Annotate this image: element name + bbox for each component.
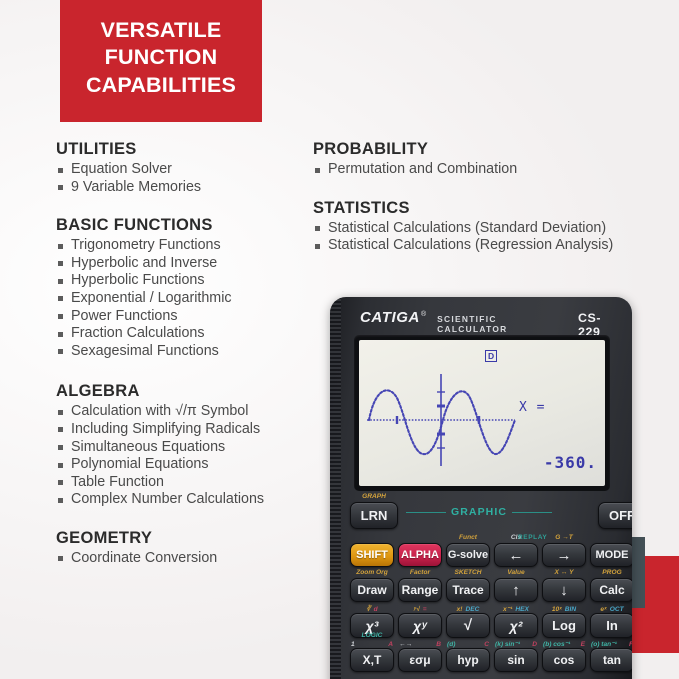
key-above-label-sketch: SKETCH: [454, 569, 481, 578]
key-above-label-prog: PROG: [602, 569, 621, 578]
feature-section-utilities: UTILITIES Equation Solver 9 Variable Mem…: [56, 140, 321, 196]
bullet-icon: [315, 226, 320, 231]
key-cos[interactable]: cos: [542, 648, 586, 672]
keypad: GRAPH LRN GRAPHIC OFF ON: [344, 489, 626, 672]
key-above-label-dec: DEC: [465, 606, 479, 613]
list-item-label: Polynomial Equations: [71, 456, 209, 472]
bullet-icon: [58, 168, 63, 173]
calculator-side-ribs: [330, 297, 341, 679]
feature-list-geometry: Coordinate Conversion: [56, 550, 321, 568]
calculator-branding: CATIGA ® SCIENTIFIC CALCULATOR CS-229: [360, 309, 622, 327]
key-above-group-tan: (o) tan⁻¹ F: [591, 640, 632, 648]
bullet-icon: [58, 296, 63, 301]
key-above-label-d-hex: D: [532, 641, 537, 648]
key-above-label-value: Value: [507, 569, 524, 578]
calculator-device: CATIGA ® SCIENTIFIC CALCULATOR CS-229 D: [330, 297, 632, 679]
key-above-label-oct: OCT: [610, 606, 624, 613]
key-group-left-arrow: Cls ← REPLAY: [494, 534, 538, 567]
key-above-label-zoom-org: Zoom Org: [356, 569, 388, 578]
list-item: Statistical Calculations (Regression Ana…: [313, 237, 673, 255]
section-heading-basic-functions: BASIC FUNCTIONS: [56, 216, 321, 235]
list-item-label: Hyperbolic Functions: [71, 272, 205, 288]
list-item-label: Statistical Calculations (Regression Ana…: [328, 237, 613, 253]
key-above-group-sin: (k) sin⁻¹ D: [495, 640, 537, 648]
bullet-icon: [58, 185, 63, 190]
lcd-bezel: D X = -360.: [354, 335, 610, 491]
key-above-label-one: 1: [351, 641, 355, 648]
feature-list-statistics: Statistical Calculations (Standard Devia…: [313, 220, 673, 255]
strip-dash-right: [512, 512, 552, 513]
list-item: Calculation with √/π Symbol: [56, 403, 321, 421]
list-item: 9 Variable Memories: [56, 179, 321, 197]
title-banner: VERSATILE FUNCTION CAPABILITIES: [60, 0, 262, 122]
key-above-label-factorial: x!: [457, 606, 463, 613]
key-above-label-c: C: [484, 641, 489, 648]
list-item: Statistical Calculations (Standard Devia…: [313, 220, 673, 238]
key-group-up-arrow: Value ↑: [494, 569, 538, 602]
bullet-icon: [58, 498, 63, 503]
bullet-icon: [58, 480, 63, 485]
key-above-label-hex: HEX: [515, 606, 529, 613]
key-arrow-left-icon[interactable]: ←: [494, 543, 538, 567]
key-above-group-cos: (b) cos⁻¹ E: [543, 640, 585, 648]
key-above-label-sin-inverse: (k) sin⁻¹: [495, 640, 520, 648]
list-item-label: Hyperbolic and Inverse: [71, 255, 217, 271]
key-above-label-d: d: [374, 606, 378, 613]
key-above-label-spacer-e: [563, 631, 565, 640]
key-arrow-down-icon[interactable]: ↓: [542, 578, 586, 602]
key-group-tan: (o) tan⁻¹ F tan: [590, 631, 632, 672]
key-above-label-tan-inverse: (o) tan⁻¹: [591, 640, 617, 648]
lcd-sine-graph: [367, 370, 517, 470]
bullet-icon: [58, 349, 63, 354]
key-above-group-hyp: (d) C: [447, 641, 489, 648]
key-above-label-equals: =: [423, 606, 427, 613]
key-above-label-leftright-icon: ←→: [399, 641, 412, 648]
list-item: Power Functions: [56, 308, 321, 326]
key-shift[interactable]: SHIFT: [350, 543, 394, 567]
key-above-label-a: A: [388, 641, 393, 648]
feature-section-geometry: GEOMETRY Coordinate Conversion: [56, 529, 321, 568]
strip-dash-left: [406, 512, 446, 513]
feature-column-right: PROBABILITY Permutation and Combination …: [313, 140, 673, 255]
page-title: VERSATILE FUNCTION CAPABILITIES: [80, 17, 242, 100]
list-item-label: Power Functions: [71, 308, 177, 324]
key-above-group-sqrt: x! DEC: [457, 606, 480, 613]
lcd-x-label: X =: [519, 400, 545, 415]
section-heading-geometry: GEOMETRY: [56, 529, 321, 548]
key-range[interactable]: Range: [398, 578, 442, 602]
key-alpha[interactable]: ALPHA: [398, 543, 442, 567]
title-line-3: CAPABILITIES: [86, 72, 236, 100]
section-heading-algebra: ALGEBRA: [56, 382, 321, 401]
key-tan[interactable]: tan: [590, 648, 632, 672]
key-group-off: OFF: [598, 493, 632, 529]
key-lrn[interactable]: LRN: [350, 502, 398, 529]
key-group-shift: SHIFT: [350, 534, 394, 567]
key-off[interactable]: OFF: [598, 502, 632, 529]
key-above-label-funct: Funct: [459, 534, 477, 543]
key-above-label-alpha: [419, 534, 421, 543]
key-above-label-x-inverse: x⁻¹: [503, 605, 512, 613]
key-group-calc: PROG Calc: [590, 569, 632, 602]
key-above-group-x-pow-y: ʸ√ =: [413, 606, 426, 613]
key-above-label-graph: GRAPH: [362, 493, 386, 502]
key-group-range: Factor Range: [398, 569, 442, 602]
graphic-strip-label: GRAPHIC: [451, 506, 507, 518]
bullet-icon: [58, 427, 63, 432]
list-item: Simultaneous Equations: [56, 439, 321, 457]
bullet-icon: [58, 244, 63, 249]
list-item-label: Coordinate Conversion: [71, 550, 217, 566]
key-above-label-bin: BIN: [565, 606, 576, 613]
key-above-group-xt: 1 A: [351, 641, 393, 648]
feature-section-probability: PROBABILITY Permutation and Combination: [313, 140, 673, 179]
key-group-draw: Zoom Org Draw: [350, 569, 394, 602]
list-item-label: Complex Number Calculations: [71, 491, 264, 507]
key-draw[interactable]: Draw: [350, 578, 394, 602]
key-above-group-x-cubed: ∛ d: [366, 605, 377, 613]
list-item: Table Function: [56, 474, 321, 492]
key-above-label-yroot: ʸ√: [413, 606, 419, 613]
list-item: Exponential / Logarithmic: [56, 290, 321, 308]
key-above-label-d-paren: (d): [447, 641, 455, 648]
key-above-label-spacer-f: [611, 631, 613, 640]
feature-section-basic-functions: BASIC FUNCTIONS Trigonometry Functions H…: [56, 216, 321, 360]
list-item-label: Permutation and Combination: [328, 161, 517, 177]
list-item-label: Trigonometry Functions: [71, 237, 221, 253]
key-group-alpha: ALPHA: [398, 534, 442, 567]
bullet-icon: [315, 168, 320, 173]
key-group-mode: MODE: [590, 534, 632, 567]
bullet-icon: [58, 261, 63, 266]
key-group-esm: ←→ B εσμ: [398, 632, 442, 672]
list-item: Coordinate Conversion: [56, 550, 321, 568]
bullet-icon: [58, 332, 63, 337]
key-group-hyp: (d) C hyp: [446, 632, 490, 672]
key-x-t[interactable]: X,T: [350, 648, 394, 672]
bullet-icon: [315, 244, 320, 249]
key-above-label-ten-pow-x: 10ˣ: [552, 606, 562, 613]
key-above-label-factor: Factor: [410, 569, 430, 578]
key-arrow-up-icon[interactable]: ↑: [494, 578, 538, 602]
feature-section-algebra: ALGEBRA Calculation with √/π Symbol Incl…: [56, 382, 321, 509]
key-trace[interactable]: Trace: [446, 578, 490, 602]
key-above-label-gt: G →T: [555, 534, 573, 543]
key-group-lrn: GRAPH LRN: [350, 493, 398, 529]
list-item: Hyperbolic and Inverse: [56, 255, 321, 273]
key-above-label-spacer-b: [419, 632, 421, 641]
list-item: Permutation and Combination: [313, 161, 673, 179]
infographic-canvas: VERSATILE FUNCTION CAPABILITIES UTILITIE…: [0, 0, 679, 679]
key-above-label-mode: [611, 534, 613, 543]
section-heading-utilities: UTILITIES: [56, 140, 321, 159]
registered-mark-icon: ®: [421, 311, 426, 318]
key-mode[interactable]: MODE: [590, 543, 632, 567]
key-above-label-off: [621, 493, 623, 502]
key-above-label-b: B: [436, 641, 441, 648]
key-above-group-log: 10ˣ BIN: [552, 606, 576, 613]
key-group-down-arrow: X ↔ Y ↓: [542, 569, 586, 602]
list-item-label: Table Function: [71, 474, 164, 490]
keypad-row-trig: LOGIC 1 A X,T ←→ B εσμ: [344, 638, 626, 672]
list-item-label: Sexagesimal Functions: [71, 343, 219, 359]
key-hyp[interactable]: hyp: [446, 648, 490, 672]
list-item-label: Exponential / Logarithmic: [71, 290, 232, 306]
feature-column-left: UTILITIES Equation Solver 9 Variable Mem…: [56, 140, 321, 568]
key-sin[interactable]: sin: [494, 648, 538, 672]
list-item: Sexagesimal Functions: [56, 343, 321, 361]
key-above-group-ln: eˣ OCT: [600, 606, 623, 613]
bullet-icon: [58, 314, 63, 319]
list-item-label: Including Simplifying Radicals: [71, 421, 260, 437]
title-line-1: VERSATILE: [86, 17, 236, 45]
key-calc[interactable]: Calc: [590, 578, 632, 602]
list-item-label: Calculation with √/π Symbol: [71, 403, 248, 419]
title-line-2: FUNCTION: [86, 44, 236, 72]
list-item-label: Equation Solver: [71, 161, 172, 177]
key-above-label-cbrt: ∛: [366, 605, 370, 613]
key-above-label-logic: LOGIC: [362, 632, 383, 641]
feature-list-utilities: Equation Solver 9 Variable Memories: [56, 161, 321, 196]
list-item-label: Simultaneous Equations: [71, 439, 225, 455]
bullet-icon: [58, 556, 63, 561]
list-item: Complex Number Calculations: [56, 491, 321, 509]
keypad-row-modifier: SHIFT ALPHA Funct G-solve Cls ← REPLAY G…: [344, 529, 626, 567]
key-arrow-right-icon[interactable]: →: [542, 543, 586, 567]
key-above-label-xy: X ↔ Y: [555, 569, 574, 578]
graphic-mode-strip: GRAPHIC: [406, 506, 552, 518]
bullet-icon: [58, 279, 63, 284]
list-item: Including Simplifying Radicals: [56, 421, 321, 439]
bullet-icon: [58, 463, 63, 468]
keypad-row-graph-tools: Zoom Org Draw Factor Range SKETCH Trace …: [344, 567, 626, 602]
key-above-label-spacer-c: [467, 632, 469, 641]
feature-section-statistics: STATISTICS Statistical Calculations (Sta…: [313, 199, 673, 255]
key-group-cos: (b) cos⁻¹ E cos: [542, 631, 586, 672]
key-above-label-spacer-d: [515, 631, 517, 640]
key-above-label-shift: [371, 534, 373, 543]
bullet-icon: [58, 410, 63, 415]
key-group-trace: SKETCH Trace: [446, 569, 490, 602]
brand-name: CATIGA: [360, 309, 420, 326]
feature-list-basic-functions: Trigonometry Functions Hyperbolic and In…: [56, 237, 321, 360]
list-item-label: Fraction Calculations: [71, 325, 205, 341]
list-item: Equation Solver: [56, 161, 321, 179]
section-heading-probability: PROBABILITY: [313, 140, 673, 159]
key-g-solve[interactable]: G-solve: [446, 543, 490, 567]
key-above-label-e-pow-x: eˣ: [600, 606, 606, 613]
list-item-label: Statistical Calculations (Standard Devia…: [328, 220, 606, 236]
key-above-label-f-hex: F: [629, 641, 632, 648]
list-item: Hyperbolic Functions: [56, 272, 321, 290]
key-above-label-cos-inverse: (b) cos⁻¹: [543, 640, 570, 648]
feature-list-probability: Permutation and Combination: [313, 161, 673, 179]
key-eng-sym[interactable]: εσμ: [398, 648, 442, 672]
bullet-icon: [58, 445, 63, 450]
lcd-display: D X = -360.: [359, 340, 605, 486]
lcd-value: -360.: [544, 453, 597, 472]
list-item: Polynomial Equations: [56, 456, 321, 474]
list-item-label: 9 Variable Memories: [71, 179, 201, 195]
lcd-mode-indicator: D: [485, 350, 497, 362]
list-item: Trigonometry Functions: [56, 237, 321, 255]
feature-list-algebra: Calculation with √/π Symbol Including Si…: [56, 403, 321, 509]
section-heading-statistics: STATISTICS: [313, 199, 673, 218]
list-item: Fraction Calculations: [56, 325, 321, 343]
key-group-sin: (k) sin⁻¹ D sin: [494, 631, 538, 672]
key-group-xt: LOGIC 1 A X,T: [350, 632, 394, 672]
key-group-right-arrow: G →T →: [542, 534, 586, 567]
key-above-label-e-hex: E: [581, 641, 585, 648]
key-group-gsolve: Funct G-solve: [446, 534, 490, 567]
key-above-group-esm: ←→ B: [399, 641, 441, 648]
key-above-group-x-squared: x⁻¹ HEX: [503, 605, 529, 613]
brand-subtitle: SCIENTIFIC CALCULATOR: [437, 314, 566, 334]
keypad-row-power: GRAPH LRN GRAPHIC OFF ON: [344, 489, 626, 529]
